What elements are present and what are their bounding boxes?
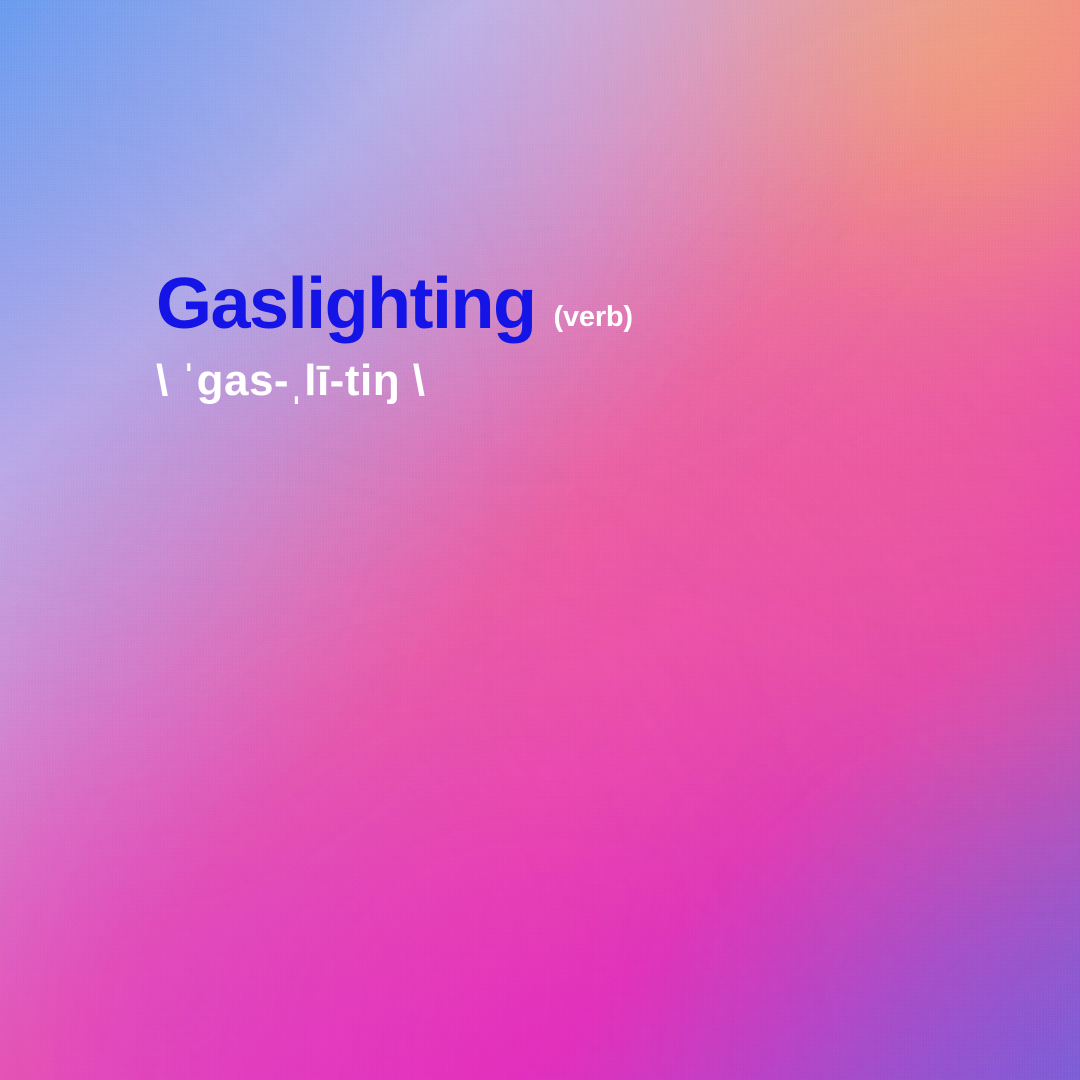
- definition-text-block: Gaslighting (verb) \ ˈgas-ˌlī-tiŋ \: [156, 268, 976, 404]
- part-of-speech-label: (verb): [554, 303, 633, 332]
- headline-row: Gaslighting (verb): [156, 268, 976, 340]
- pronunciation-text: \ ˈgas-ˌlī-tiŋ \: [156, 358, 976, 404]
- background-base-gradient: [0, 0, 1080, 1080]
- term-heading: Gaslighting: [156, 268, 536, 340]
- definition-graphic-canvas: Gaslighting (verb) \ ˈgas-ˌlī-tiŋ \: [0, 0, 1080, 1080]
